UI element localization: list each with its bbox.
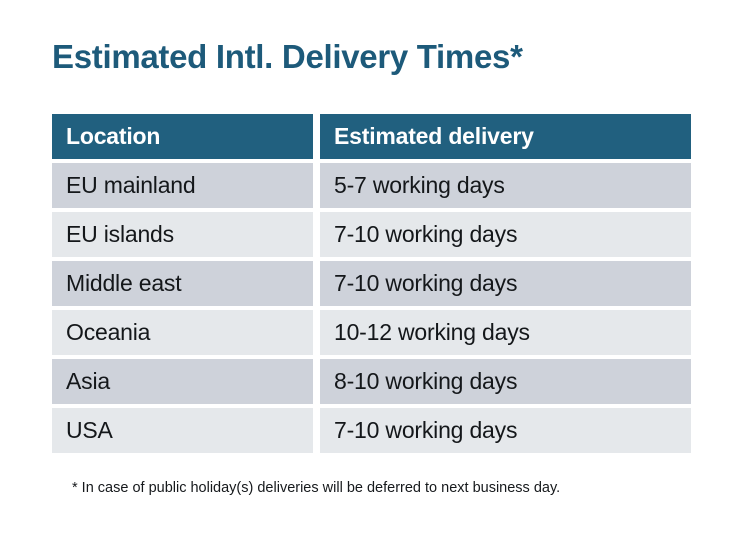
cell-location: USA <box>52 408 313 453</box>
table-row: Asia 8-10 working days <box>52 359 691 404</box>
delivery-times-card: Estimated Intl. Delivery Times* Location… <box>0 0 745 536</box>
cell-location: EU islands <box>52 212 313 257</box>
cell-estimated-delivery: 8-10 working days <box>320 359 691 404</box>
cell-location: Asia <box>52 359 313 404</box>
table-row: Oceania 10-12 working days <box>52 310 691 355</box>
table-row: EU islands 7-10 working days <box>52 212 691 257</box>
table-header-row: Location Estimated delivery <box>52 114 691 159</box>
table-row: EU mainland 5-7 working days <box>52 163 691 208</box>
table-row: USA 7-10 working days <box>52 408 691 453</box>
cell-estimated-delivery: 7-10 working days <box>320 408 691 453</box>
cell-estimated-delivery: 7-10 working days <box>320 212 691 257</box>
table-row: Middle east 7-10 working days <box>52 261 691 306</box>
cell-location: Middle east <box>52 261 313 306</box>
cell-location: Oceania <box>52 310 313 355</box>
column-header-location: Location <box>52 114 313 159</box>
cell-estimated-delivery: 7-10 working days <box>320 261 691 306</box>
footnote: * In case of public holiday(s) deliverie… <box>72 478 712 498</box>
cell-estimated-delivery: 10-12 working days <box>320 310 691 355</box>
page-title: Estimated Intl. Delivery Times* <box>52 36 712 78</box>
column-header-estimated-delivery: Estimated delivery <box>320 114 691 159</box>
cell-estimated-delivery: 5-7 working days <box>320 163 691 208</box>
cell-location: EU mainland <box>52 163 313 208</box>
delivery-times-table: Location Estimated delivery EU mainland … <box>52 114 691 453</box>
